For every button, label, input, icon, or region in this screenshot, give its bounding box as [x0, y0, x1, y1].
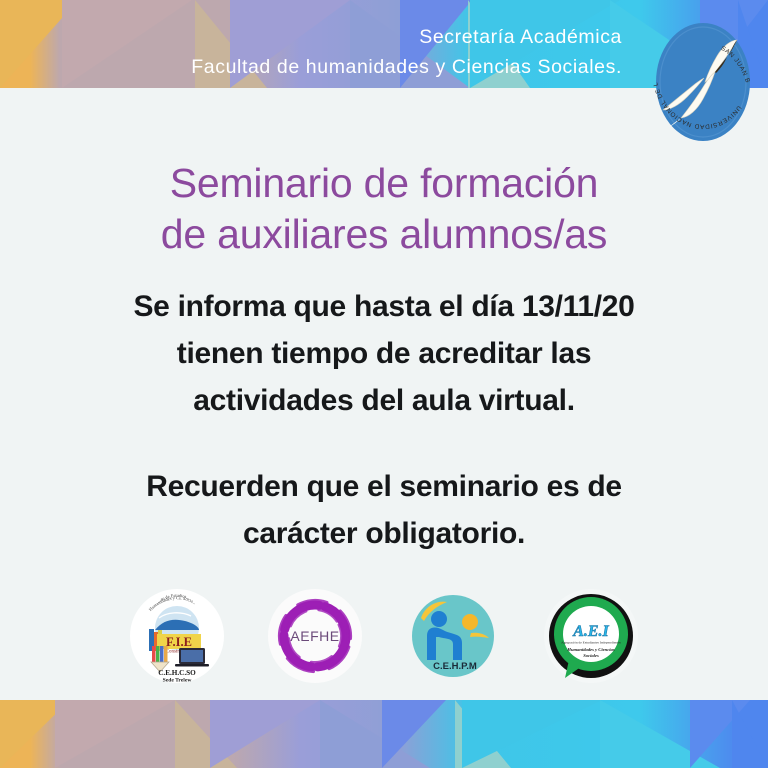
university-seal-graphic: SAN JUAN BOSCO UNIVERSIDAD NACIONAL DE L… [641, 6, 765, 158]
page-title: Seminario de formación de auxiliares alu… [0, 158, 768, 260]
aefhe-logo: AEFHE [267, 588, 363, 684]
paragraph1-line-1: Se informa que hasta el día 13/11/20 [0, 283, 768, 330]
header-text-block: Secretaría Académica Facultad de humanid… [0, 22, 636, 82]
band-facet [55, 700, 175, 768]
paragraph2-line-2: carácter obligatorio. [0, 510, 768, 557]
paragraph2-line-1: Recuerden que el seminario es de [0, 463, 768, 510]
band-facet [210, 700, 320, 768]
fie-footer-line-1: C.E.H.C.SO [158, 669, 196, 677]
paragraph1-line-3: actividades del aula virtual. [0, 377, 768, 424]
fie-footer-line-2: Sede Trelew [163, 678, 193, 684]
aei-acronym: A.E.I [572, 623, 609, 640]
aei-subtitle-line-1: Agrupación de Estudiantes Independientes [561, 641, 621, 645]
header-line-secretaria: Secretaría Académica [0, 22, 622, 52]
laptop-icon [175, 648, 209, 667]
fie-cehcso-logo: F.I.E Construcción [129, 588, 225, 684]
aefhe-acronym: AEFHE [290, 628, 339, 644]
header-line-facultad: Facultad de humanidades y Ciencias Socia… [0, 52, 622, 82]
poster-canvas: Secretaría Académica Facultad de humanid… [0, 0, 768, 768]
aei-subtitle-line-3: Sociales [583, 653, 599, 658]
title-line-2: de auxiliares alumnos/as [0, 209, 768, 260]
paragraph1-line-2: tienen tiempo de acreditar las [0, 330, 768, 377]
band-facet [382, 700, 446, 768]
cehpm-logo: C.E.H.P.M [405, 588, 501, 684]
fie-acronym: F.I.E [166, 635, 192, 649]
title-line-1: Seminario de formación [0, 158, 768, 209]
bottom-decorative-band [0, 700, 768, 768]
aei-logo: A.E.I Agrupación de Estudiantes Independ… [543, 588, 639, 684]
body-paragraph-1: Se informa que hasta el día 13/11/20 tie… [0, 283, 768, 424]
university-seal: SAN JUAN BOSCO UNIVERSIDAD NACIONAL DE L… [641, 6, 765, 158]
figure-head-icon [431, 611, 447, 627]
yellow-dot-icon [462, 614, 478, 630]
band-facet [462, 700, 602, 768]
cehpm-acronym: C.E.H.P.M [433, 661, 477, 672]
aei-subtitle-line-2: Humanidades y Ciencias [566, 647, 614, 652]
body-paragraph-2: Recuerden que el seminario es de carácte… [0, 463, 768, 557]
partner-logo-row: F.I.E Construcción [0, 586, 768, 686]
band-facet [732, 700, 768, 768]
